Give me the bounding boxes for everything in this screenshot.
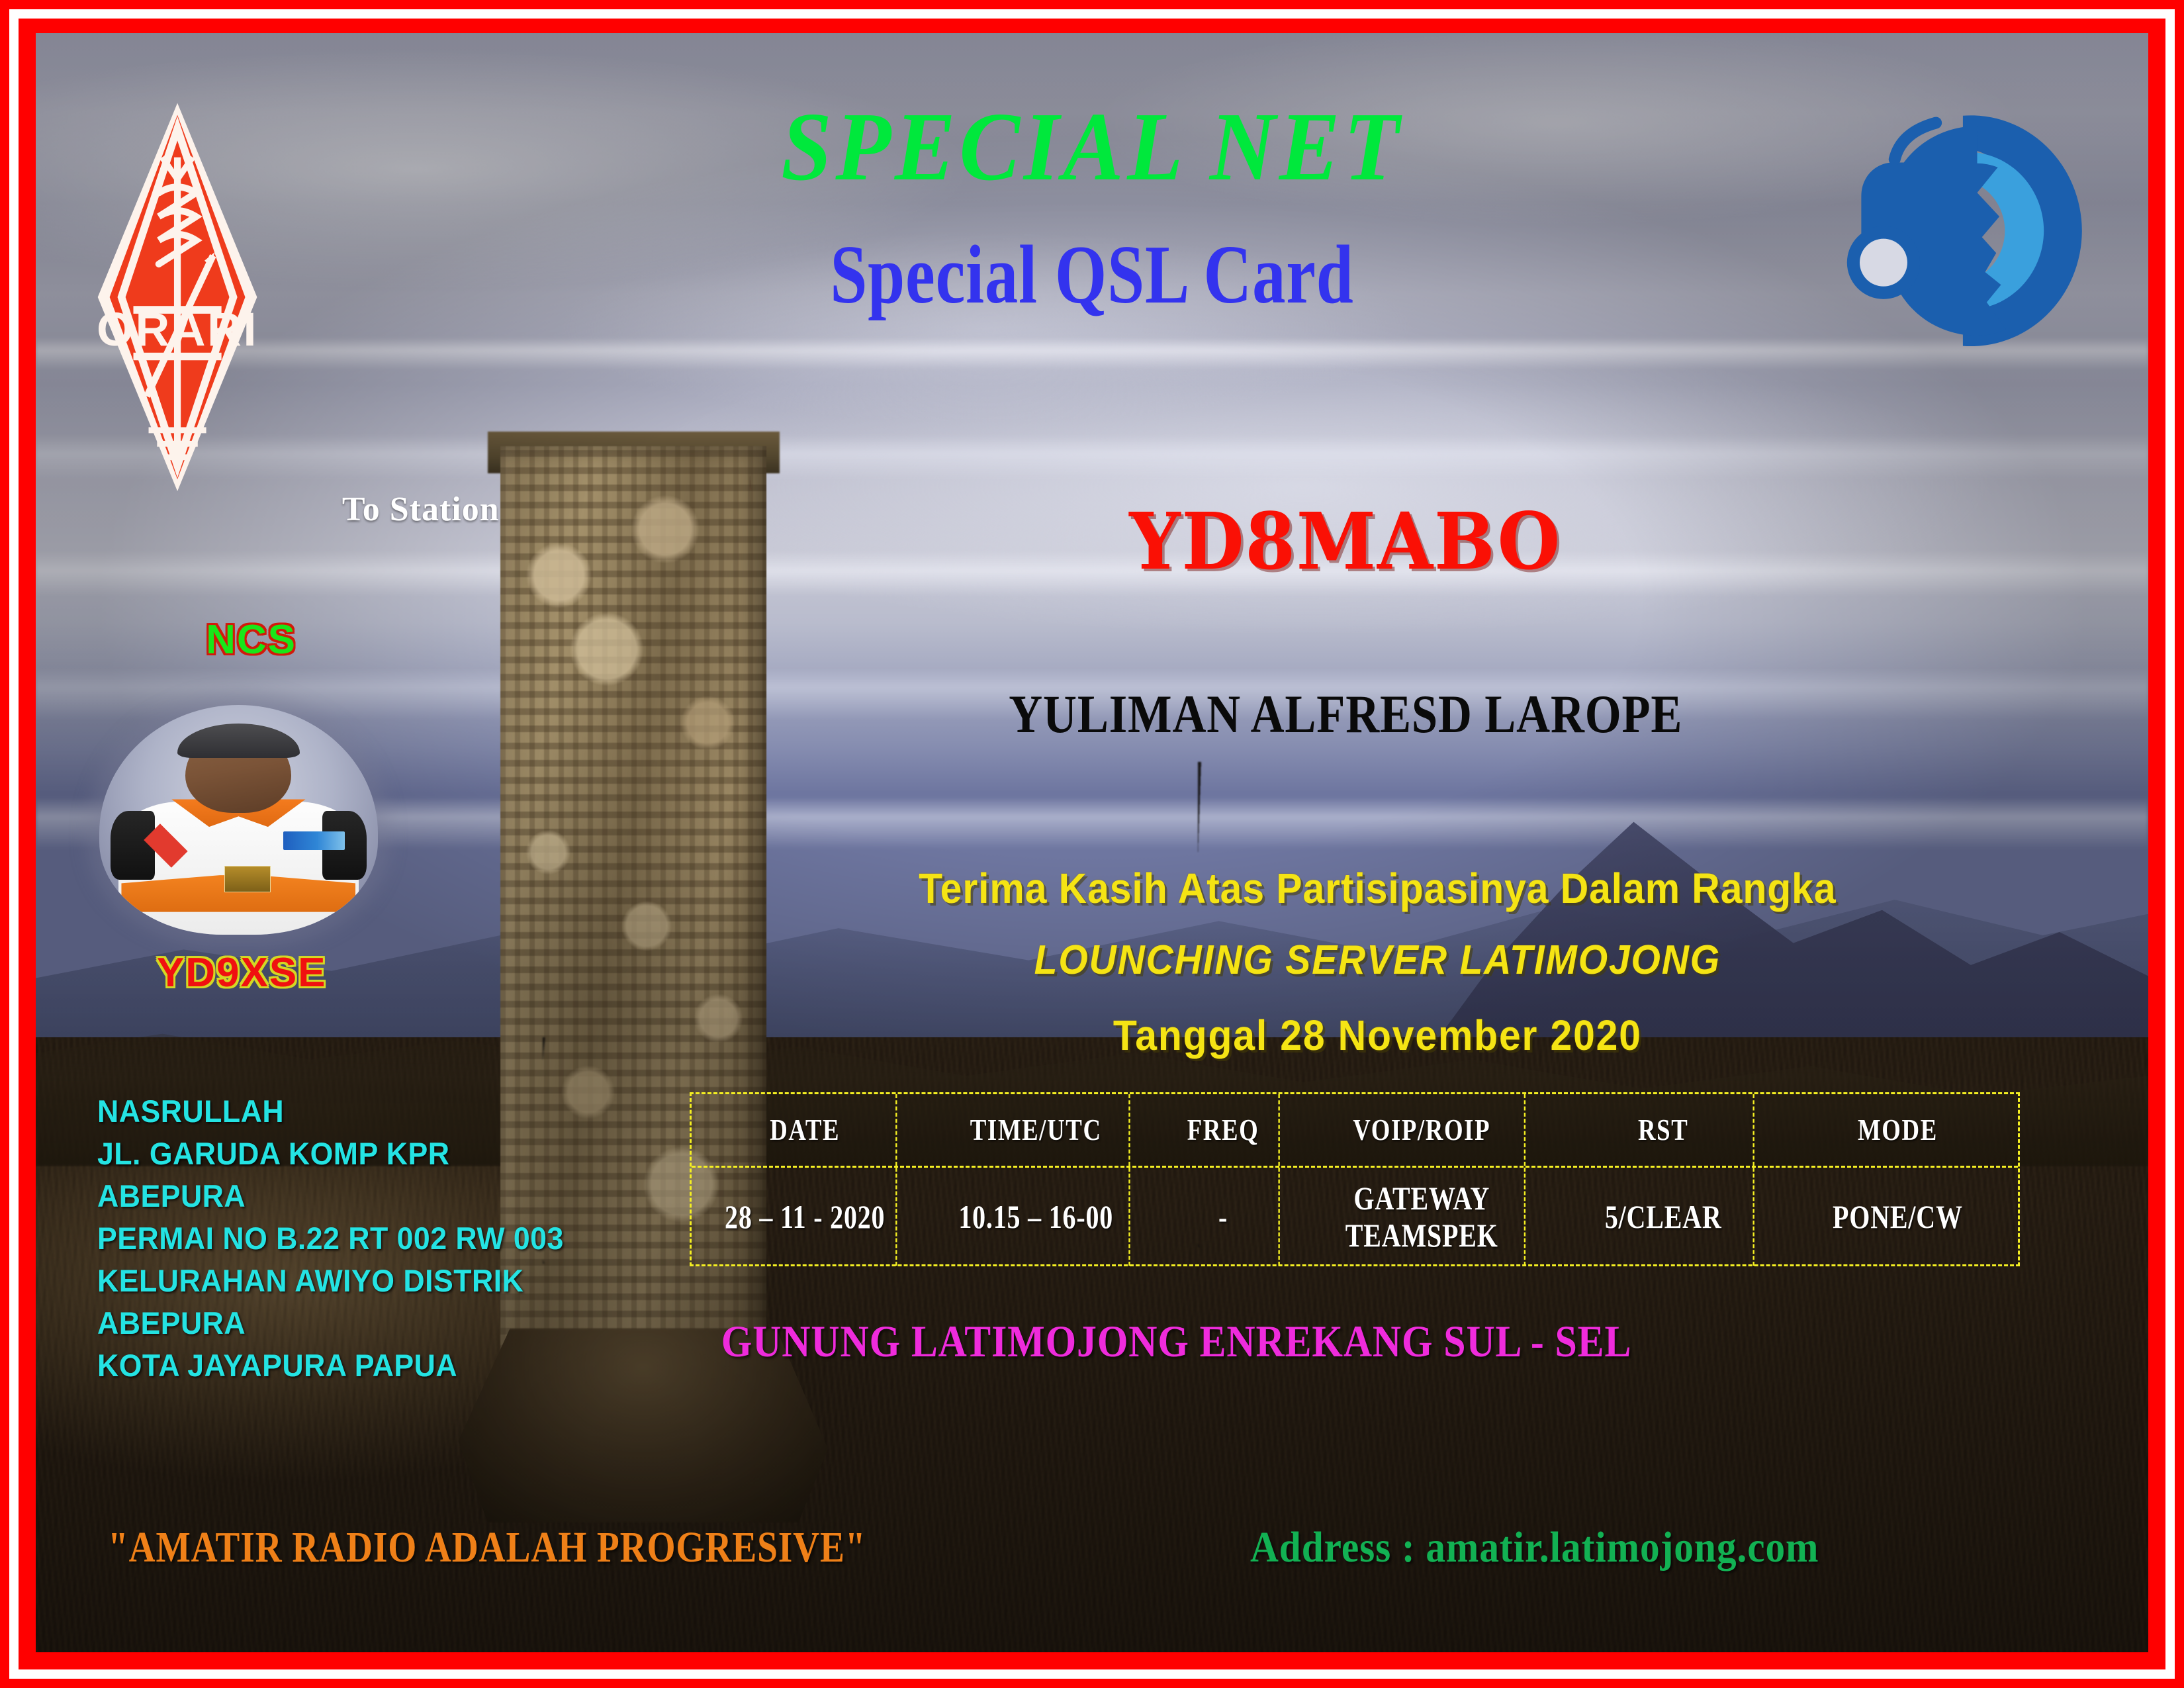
qso-header-date: DATE <box>714 1094 897 1166</box>
card-photo-area: ORARI SPECIAL NET Special QSL <box>36 33 2148 1652</box>
card-content: ORARI SPECIAL NET Special QSL <box>36 33 2148 1652</box>
operator-name: YULIMAN ALFRESD LAROPE <box>728 687 1964 741</box>
card-inner-red-frame: ORARI SPECIAL NET Special QSL <box>19 19 2165 1669</box>
address-line: NASRULLAH <box>97 1090 619 1133</box>
footer-web-address[interactable]: Address : amatir.latimojong.com <box>1250 1523 1819 1573</box>
event-line-2: LOUNCHING SERVER LATIMOJONG <box>726 937 2028 984</box>
photo-id-card <box>224 866 270 892</box>
ncs-operator-photo <box>99 705 378 935</box>
qso-table: DATE TIME/UTC FREQ VOIP/ROIP RST MODE 28… <box>690 1092 2021 1266</box>
qso-value-rst: 5/CLEAR <box>1574 1168 1754 1266</box>
qso-header-rst: RST <box>1574 1094 1754 1166</box>
address-line: JL. GARUDA KOMP KPR <box>97 1133 619 1175</box>
photo-chest-logo <box>283 831 345 850</box>
page-subtitle: Special QSL Card <box>247 234 1937 317</box>
qso-value-freq: - <box>1167 1168 1280 1266</box>
qso-header-freq: FREQ <box>1167 1094 1280 1166</box>
ncs-callsign: YD9XSE <box>99 949 385 996</box>
qso-header-time: TIME/UTC <box>943 1094 1130 1166</box>
mailing-address: NASRULLAH JL. GARUDA KOMP KPR ABEPURA PE… <box>97 1090 619 1386</box>
address-line: KOTA JAYAPURA PAPUA <box>97 1344 619 1387</box>
qso-header-mode: MODE <box>1801 1094 1994 1166</box>
photo-shoulder-left <box>111 811 155 880</box>
qso-header-voip: VOIP/ROIP <box>1320 1094 1525 1166</box>
qso-value-time: 10.15 – 16-00 <box>943 1168 1130 1266</box>
qsl-card: ORARI SPECIAL NET Special QSL <box>0 0 2184 1688</box>
to-station-label: To Station <box>342 490 500 529</box>
orari-logo-text: ORARI <box>97 303 258 356</box>
location-label: GUNUNG LATIMOJONG ENREKANG SUL - SEL <box>721 1315 1631 1368</box>
ncs-label: NCS <box>124 616 378 663</box>
card-white-frame: ORARI SPECIAL NET Special QSL <box>9 9 2175 1679</box>
qso-value-mode: PONE/CW <box>1801 1168 1994 1266</box>
table-row: 28 – 11 - 2020 10.15 – 16-00 - GATEWAY T… <box>692 1166 2019 1266</box>
event-line-3: Tanggal 28 November 2020 <box>726 1011 2028 1060</box>
address-line: ABEPURA <box>97 1175 619 1217</box>
qso-value-date: 28 – 11 - 2020 <box>714 1168 897 1266</box>
address-line: KELURAHAN AWIYO DISTRIK <box>97 1260 619 1302</box>
event-line-1: Terima Kasih Atas Partisipasinya Dalam R… <box>726 864 2028 913</box>
address-line: PERMAI NO B.22 RT 002 RW 003 <box>97 1217 619 1260</box>
station-callsign: YD8MABO <box>762 502 1929 581</box>
address-line: ABEPURA <box>97 1302 619 1344</box>
qso-value-voip: GATEWAY TEAMSPEK <box>1320 1168 1525 1266</box>
footer-slogan: "AMATIR RADIO ADALAH PROGRESIVE" <box>108 1523 866 1573</box>
page-title: SPECIAL NET <box>110 98 2075 196</box>
qso-table-header-row: DATE TIME/UTC FREQ VOIP/ROIP RST MODE <box>692 1094 2019 1166</box>
